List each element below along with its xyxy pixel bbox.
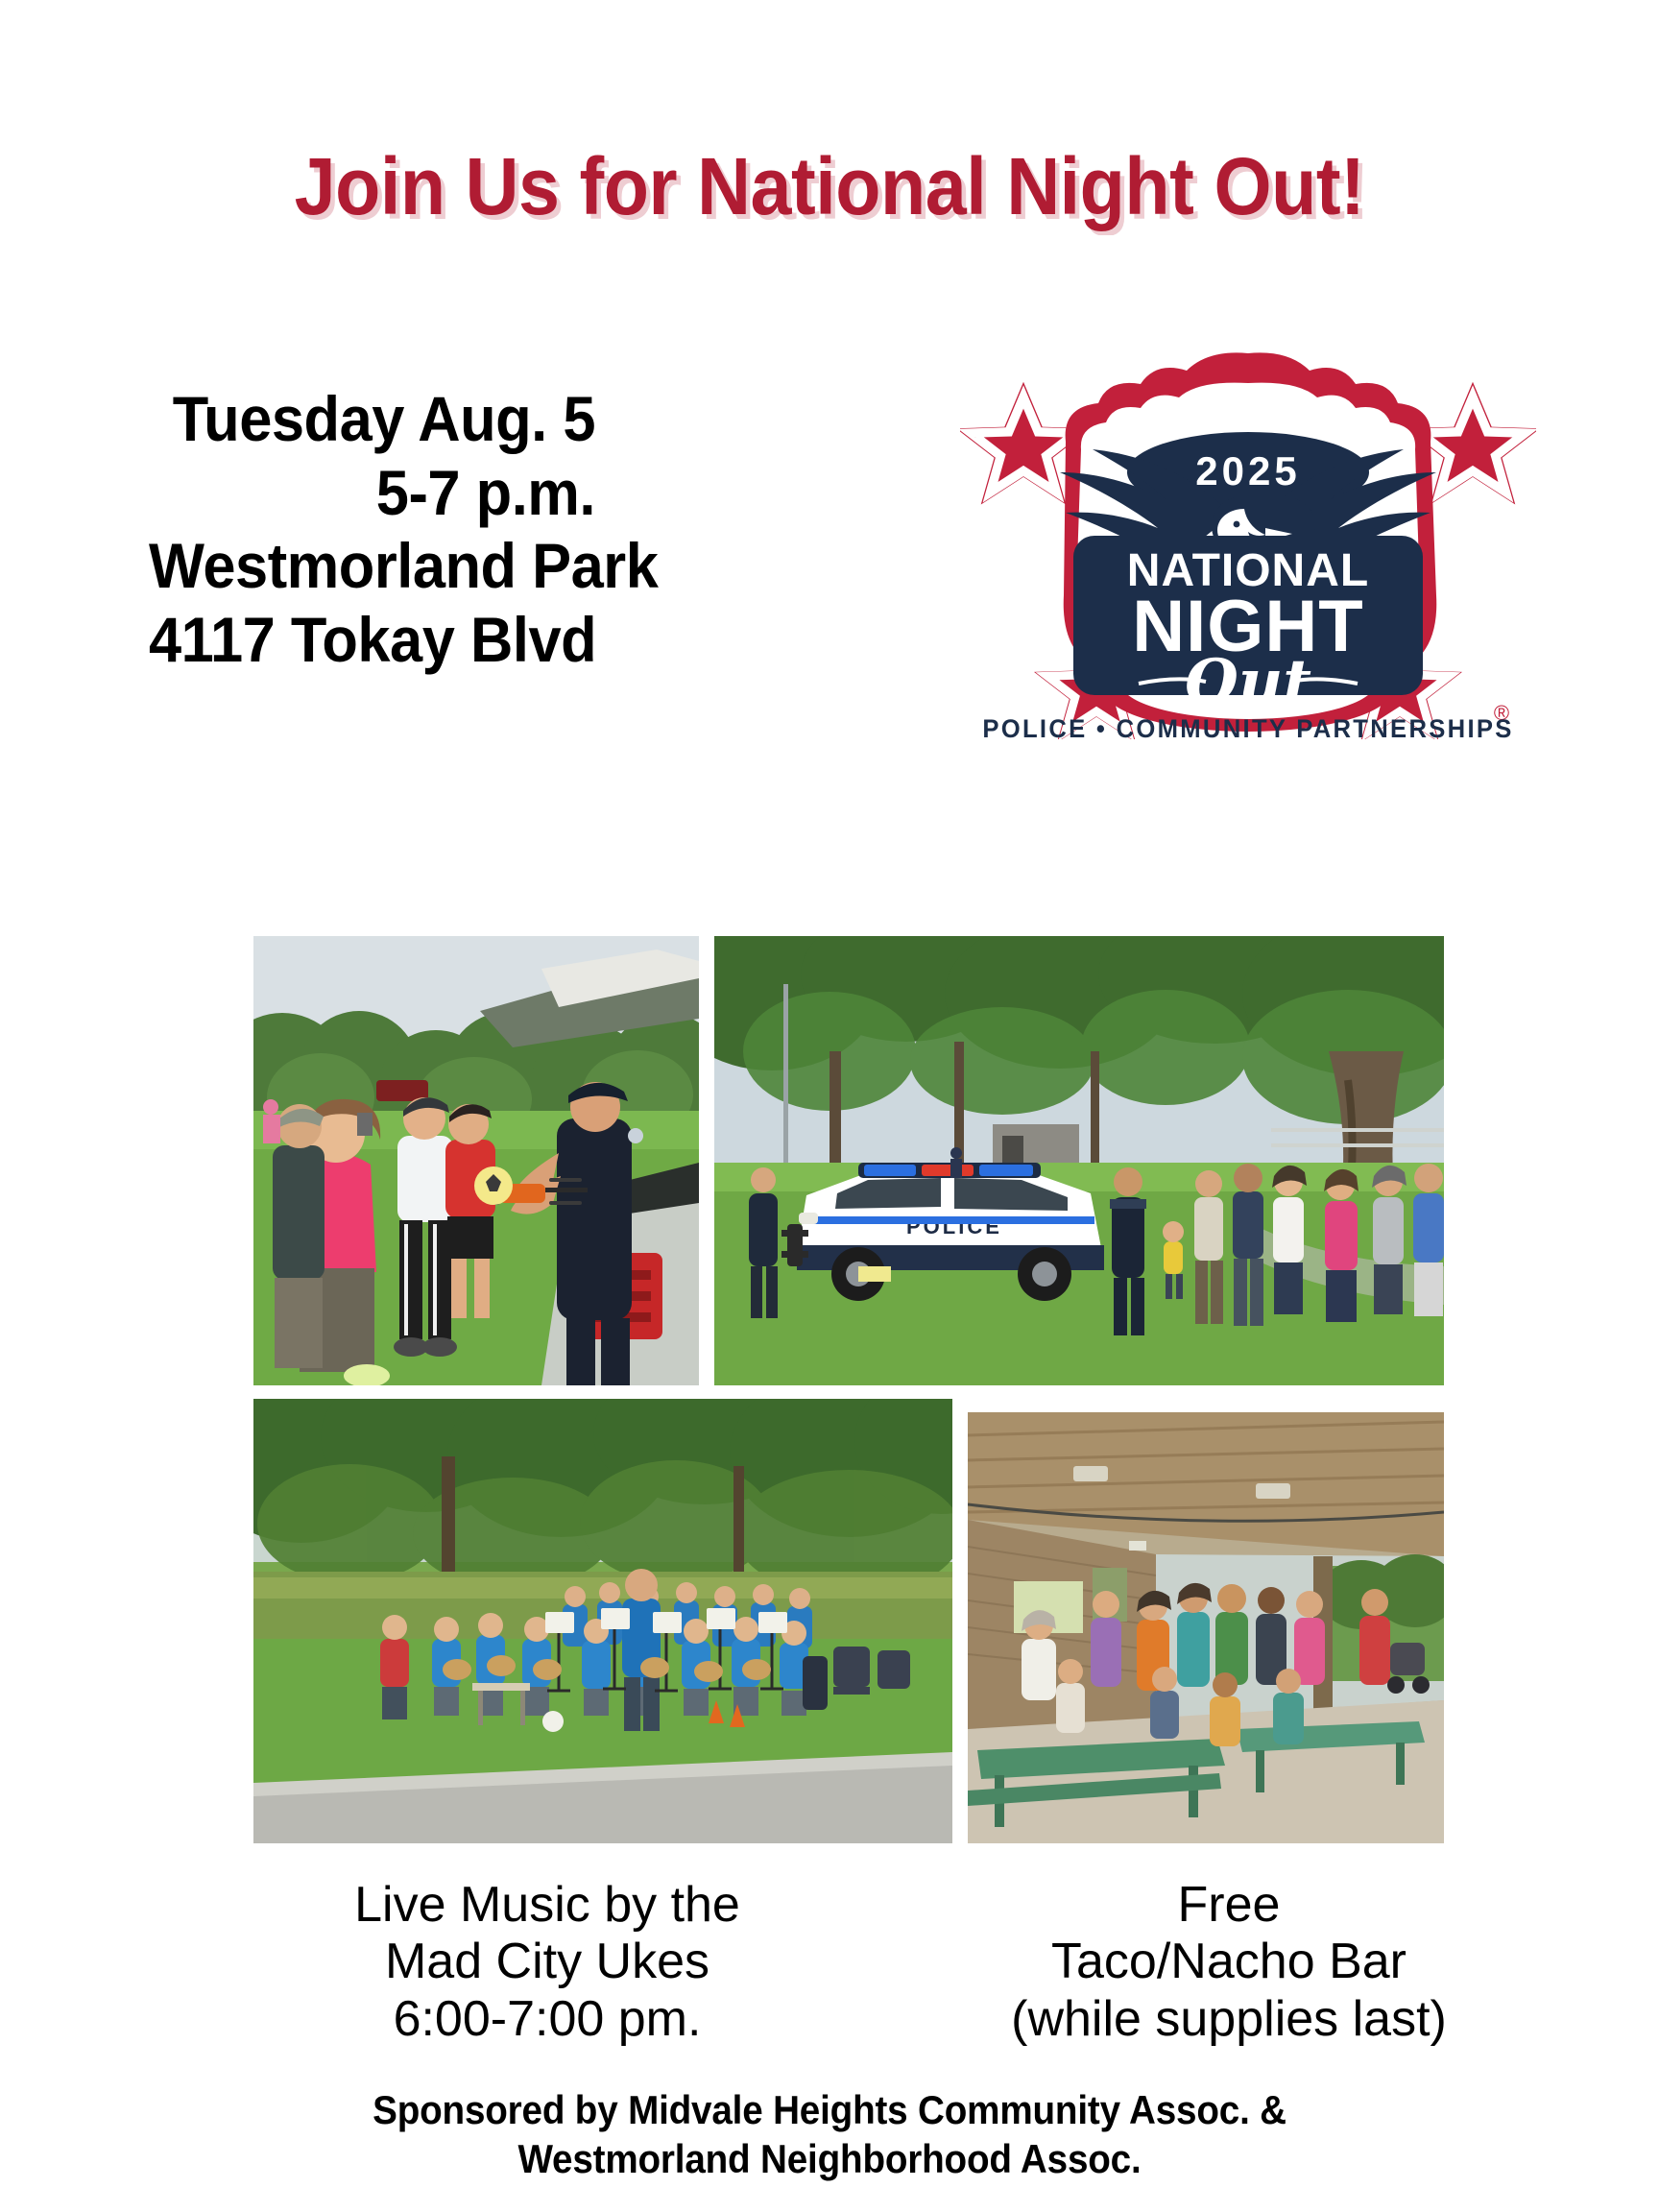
sponsor-line-2: Westmorland Neighborhood Assoc. bbox=[66, 2134, 1593, 2183]
photo-collage: POLICE bbox=[253, 936, 1444, 1843]
caption-food-line-1: Free bbox=[893, 1877, 1565, 1934]
photo-police-squad-car: POLICE bbox=[714, 936, 1444, 1385]
sponsor-line-1: Sponsored by Midvale Heights Community A… bbox=[66, 2085, 1593, 2134]
event-date: Tuesday Aug. 5 bbox=[149, 382, 595, 456]
caption-music-line-3: 6:00-7:00 pm. bbox=[211, 1991, 883, 2048]
event-venue: Westmorland Park bbox=[149, 529, 595, 603]
caption-music-line-1: Live Music by the bbox=[211, 1877, 883, 1934]
national-night-out-logo: 2025 NATIONAL NIGHT Out ® bbox=[960, 326, 1536, 806]
page-title: Join Us for National Night Out! bbox=[66, 142, 1593, 230]
logo-tagline: POLICE • COMMUNITY PARTNERSHIPS bbox=[974, 714, 1522, 744]
caption-live-music: Live Music by the Mad City Ukes 6:00-7:0… bbox=[211, 1877, 883, 2048]
event-address: 4117 Tokay Blvd bbox=[149, 603, 595, 677]
photo-officer-drone bbox=[253, 936, 699, 1385]
caption-music-line-2: Mad City Ukes bbox=[211, 1934, 883, 1990]
event-details-block: Tuesday Aug. 5 5-7 p.m. Westmorland Park… bbox=[149, 382, 595, 676]
photo-mad-city-ukes bbox=[253, 1399, 952, 1843]
photo-shelter-food-line bbox=[968, 1412, 1444, 1843]
event-time: 5-7 p.m. bbox=[149, 456, 595, 530]
logo-year-text: 2025 bbox=[1195, 448, 1300, 493]
caption-food-line-3: (while supplies last) bbox=[893, 1991, 1565, 2048]
nno-badge-icon: 2025 NATIONAL NIGHT Out ® bbox=[960, 326, 1536, 739]
sponsor-credit: Sponsored by Midvale Heights Community A… bbox=[66, 2085, 1593, 2183]
caption-food-line-2: Taco/Nacho Bar bbox=[893, 1934, 1565, 1990]
caption-free-food: Free Taco/Nacho Bar (while supplies last… bbox=[893, 1877, 1565, 2048]
